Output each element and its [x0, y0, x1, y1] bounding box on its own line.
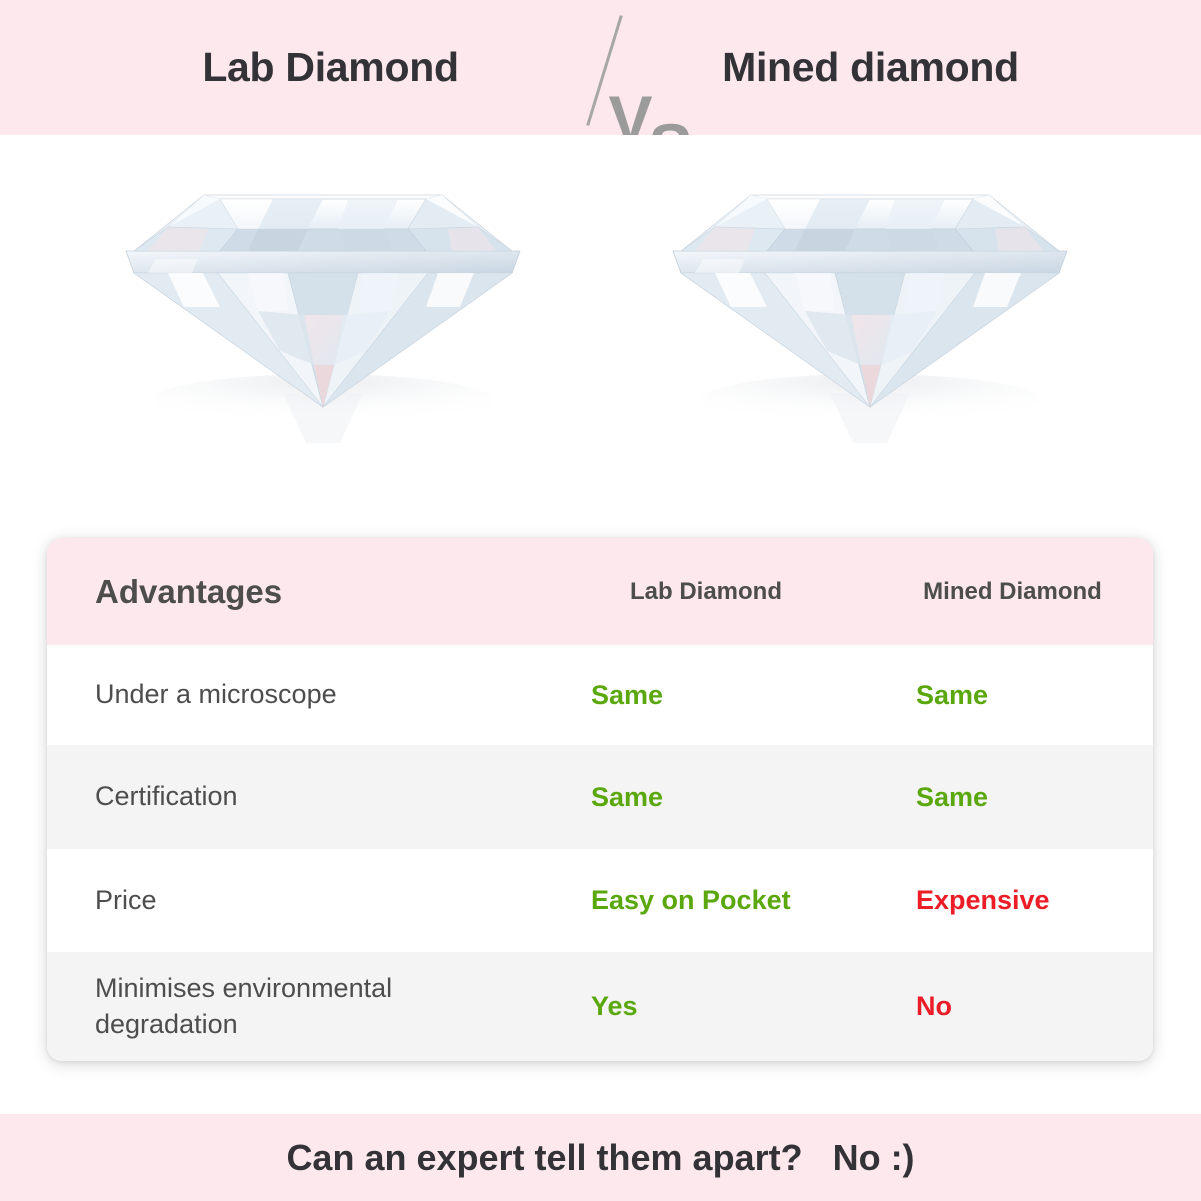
header-title-lab: Lab Diamond — [121, 44, 541, 91]
row-value-mined: Same — [872, 782, 1153, 813]
header-title-mined: Mined diamond — [661, 44, 1081, 91]
column-header-mined: Mined Diamond — [872, 578, 1153, 606]
column-header-advantages: Advantages — [47, 573, 540, 611]
footer-question: Can an expert tell them apart? No :) — [286, 1137, 914, 1179]
row-feature-label: Certification — [47, 779, 540, 815]
column-header-lab: Lab Diamond — [540, 578, 872, 606]
footer-band: Can an expert tell them apart? No :) — [0, 1114, 1201, 1201]
row-value-lab: Same — [540, 782, 872, 813]
header-band: Lab Diamond V S Mined diamond — [0, 0, 1201, 135]
table-row: Price Easy on Pocket Expensive — [47, 849, 1153, 952]
table-row: Certification Same Same — [47, 745, 1153, 849]
row-value-mined: Same — [872, 680, 1153, 711]
row-value-lab: Yes — [540, 991, 872, 1022]
row-feature-label: Minimises environmental degradation — [47, 971, 540, 1042]
infographic-page: Lab Diamond V S Mined diamond — [0, 0, 1201, 1201]
row-value-lab: Same — [540, 680, 872, 711]
row-value-mined: Expensive — [872, 885, 1153, 916]
comparison-table: Advantages Lab Diamond Mined Diamond Und… — [47, 538, 1153, 1061]
row-value-mined: No — [872, 991, 1153, 1022]
diamond-illustration — [108, 155, 538, 455]
row-feature-label: Price — [47, 883, 540, 919]
row-value-lab: Easy on Pocket — [540, 885, 872, 916]
diamond-illustration — [655, 155, 1085, 455]
vs-badge: V S — [541, 5, 661, 130]
row-feature-label: Under a microscope — [47, 677, 540, 713]
table-row: Under a microscope Same Same — [47, 645, 1153, 745]
table-header-row: Advantages Lab Diamond Mined Diamond — [47, 538, 1153, 645]
mined-diamond-image — [655, 155, 1085, 455]
diamond-image-area — [0, 135, 1201, 535]
lab-diamond-image — [108, 155, 538, 455]
table-row: Minimises environmental degradation Yes … — [47, 952, 1153, 1061]
